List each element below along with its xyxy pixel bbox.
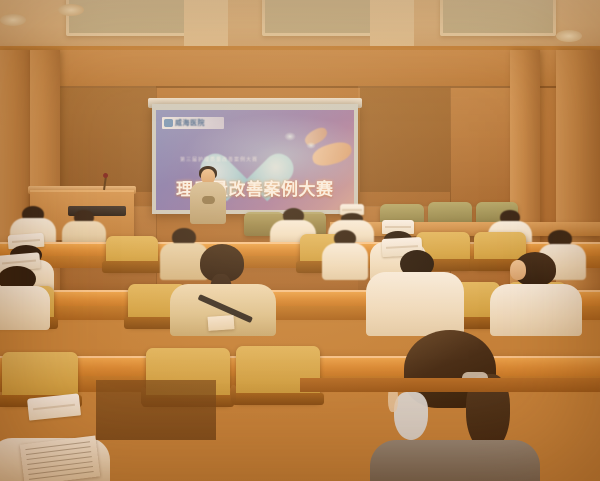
attendee-front-3 xyxy=(366,238,464,336)
auditorium-chair[interactable] xyxy=(106,236,158,270)
attendee-front-1 xyxy=(0,254,50,330)
handout-paper[interactable] xyxy=(20,436,100,481)
desk-shadow xyxy=(96,380,216,440)
ceiling-light-panel xyxy=(440,0,556,36)
desk-edge xyxy=(300,378,600,392)
logo-text: 威海医院 xyxy=(175,118,205,128)
handout-paper[interactable] xyxy=(208,315,235,331)
ceiling-beam xyxy=(370,0,414,46)
attendee-front-4 xyxy=(490,252,582,336)
ceiling-downlight xyxy=(0,14,26,26)
attendee-fg-masked xyxy=(370,330,540,481)
projection-screen: 威海医院 第三届护理质量改善案例大赛 理质量改善案例大赛 xyxy=(156,110,354,210)
slide-subtitle: 第三届护理质量改善案例大赛 xyxy=(180,156,258,163)
ceiling-light-panel xyxy=(66,0,190,36)
logo-mark-icon xyxy=(164,119,173,127)
dove-graphic-icon xyxy=(306,142,316,149)
hospital-logo: 威海医院 xyxy=(162,117,224,129)
wall-shadow xyxy=(60,88,156,192)
dove-graphic-icon xyxy=(284,132,296,141)
wall-panel xyxy=(450,86,511,207)
wall-shadow xyxy=(360,88,450,192)
ceiling-downlight xyxy=(556,30,582,42)
ceiling-downlight xyxy=(58,4,84,16)
attendee-mid-3 xyxy=(322,230,368,280)
presenter xyxy=(188,166,228,224)
ceiling-beam xyxy=(184,0,228,46)
photo-scene: 威海医院 第三届护理质量改善案例大赛 理质量改善案例大赛 xyxy=(0,0,600,481)
ceiling-light-panel xyxy=(262,0,376,36)
auditorium-chair[interactable] xyxy=(236,346,320,402)
hand-graphic-icon xyxy=(310,139,354,168)
